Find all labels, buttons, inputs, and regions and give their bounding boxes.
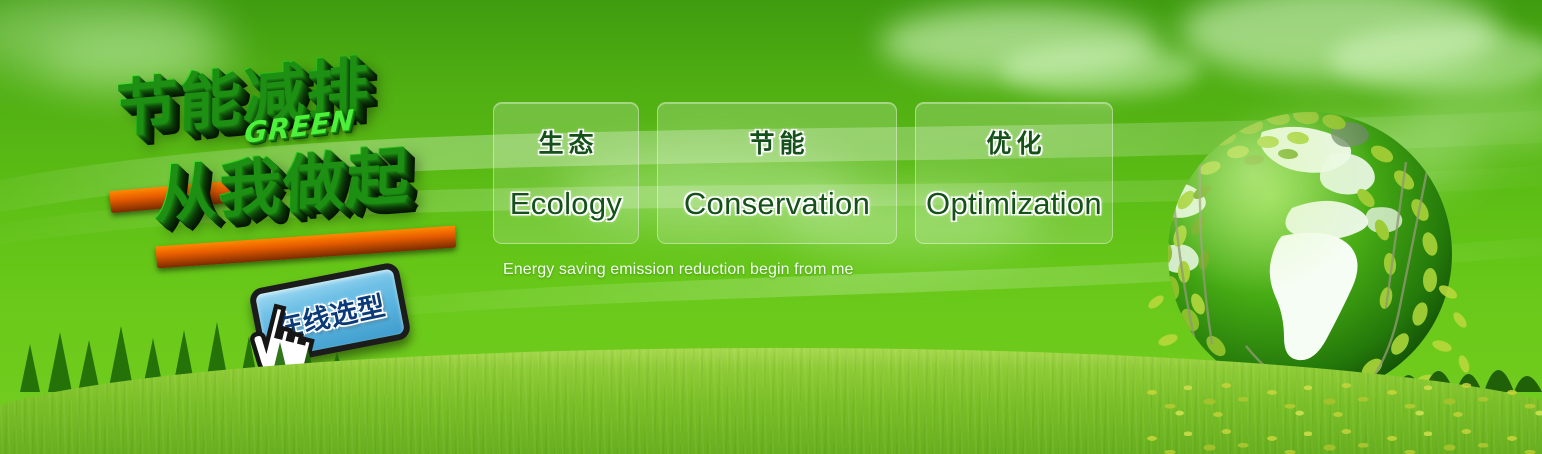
feature-card-cn-label: 生态 — [538, 124, 598, 160]
fallen-leaves-texture — [1140, 374, 1542, 454]
feature-card-cn-label: 节能 — [749, 124, 809, 160]
feature-card-en-label: Optimization — [926, 186, 1102, 222]
hero-3d-headline: 节能减排 GREEN 从我做起 — [96, 36, 496, 276]
feature-card-en-label: Conservation — [684, 186, 870, 222]
feature-card-list: 生态 Ecology 节能 Conservation 优化 Optimizati… — [493, 102, 1113, 244]
feature-card-optimization[interactable]: 优化 Optimization — [915, 102, 1113, 244]
feature-card-ecology[interactable]: 生态 Ecology — [493, 102, 639, 244]
feature-card-conservation[interactable]: 节能 Conservation — [657, 102, 897, 244]
eco-promo-banner: 节能减排 GREEN 从我做起 在线选型 生态 Ecology 节能 Conse… — [0, 0, 1542, 454]
cloud-icon — [1000, 44, 1200, 96]
cloud-icon — [1330, 26, 1542, 92]
feature-card-en-label: Ecology — [510, 186, 622, 222]
feature-card-cn-label: 优化 — [986, 124, 1046, 160]
banner-tagline: Energy saving emission reduction begin f… — [503, 261, 854, 279]
ember-glow — [156, 226, 457, 269]
